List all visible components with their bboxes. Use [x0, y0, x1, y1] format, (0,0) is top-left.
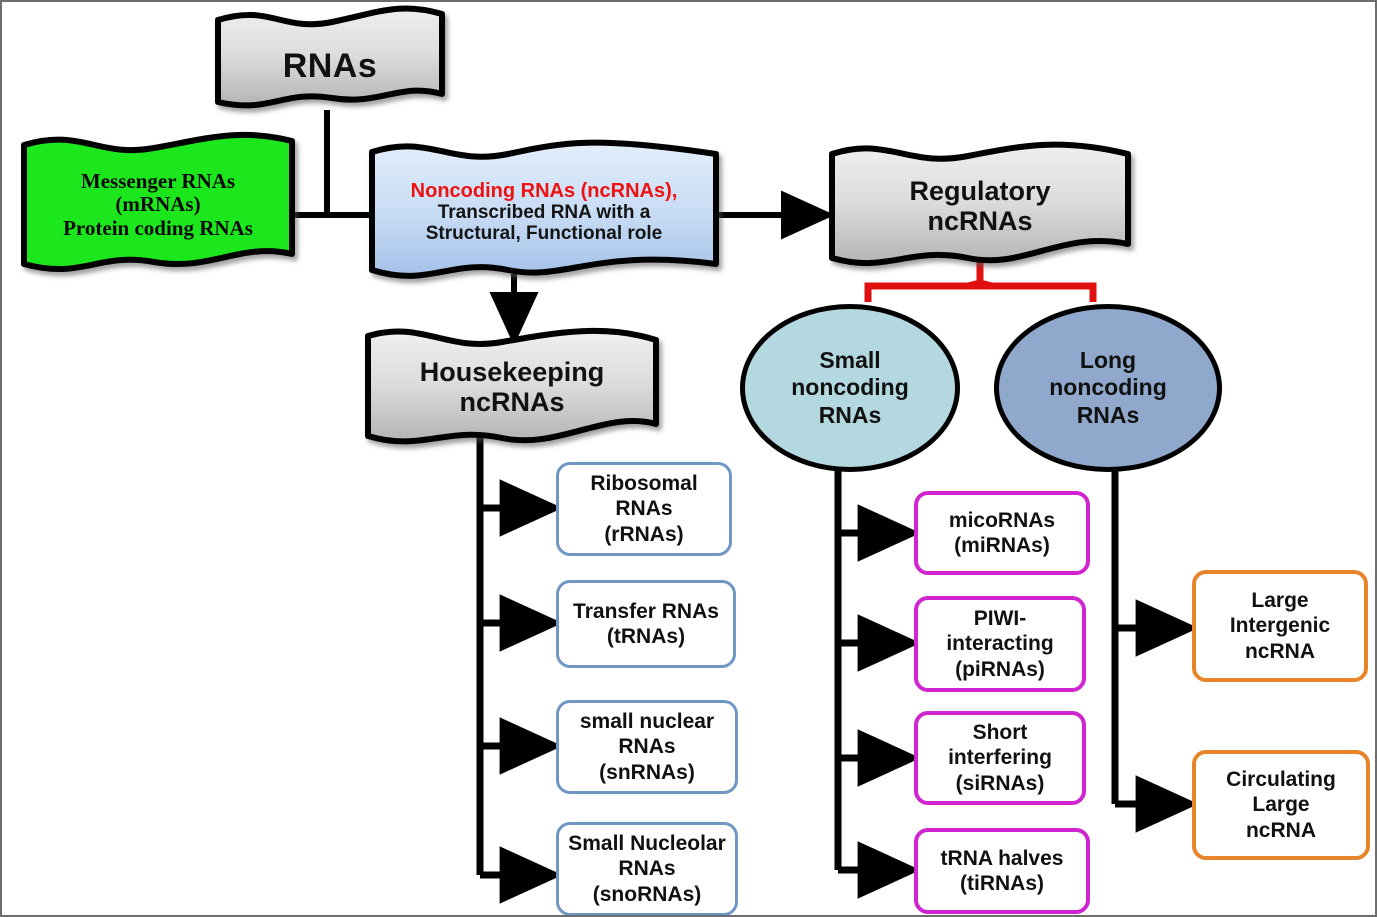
- node-regulatory-ncrnas-line2: ncRNAs: [927, 206, 1032, 236]
- leaf-transfer-rnas[interactable]: Transfer RNAs (tRNAs): [556, 580, 736, 668]
- leaf-piwi-interacting-rnas-line3: (piRNAs): [955, 658, 1045, 681]
- node-messenger-rnas-line2: (mRNAs): [115, 192, 200, 216]
- leaf-micrornas-line1: micoRNAs: [949, 509, 1055, 532]
- leaf-ribosomal-rnas[interactable]: Ribosomal RNAs (rRNAs): [556, 462, 732, 556]
- node-regulatory-ncrnas[interactable]: Regulatory ncRNAs: [832, 154, 1128, 258]
- leaf-large-intergenic-ncrna-line3: ncRNA: [1245, 640, 1315, 663]
- leaf-large-intergenic-ncrna-line1: Large: [1251, 589, 1308, 612]
- node-messenger-rnas[interactable]: Messenger RNAs (mRNAs) Protein coding RN…: [24, 145, 292, 265]
- leaf-small-nucleolar-rnas-line3: (snoRNAs): [593, 883, 702, 906]
- leaf-short-interfering-rnas-line1: Short: [973, 721, 1028, 744]
- leaf-ribosomal-rnas-line2: RNAs: [615, 497, 672, 520]
- node-long-noncoding-rnas-line3: RNAs: [1077, 402, 1140, 428]
- node-small-noncoding-rnas-line3: RNAs: [819, 402, 882, 428]
- node-noncoding-rnas-line3: Structural, Functional role: [382, 223, 705, 244]
- node-housekeeping-ncrnas[interactable]: Housekeeping ncRNAs: [368, 338, 656, 436]
- leaf-circulating-large-ncrna[interactable]: Circulating Large ncRNA: [1192, 750, 1370, 860]
- leaf-short-interfering-rnas[interactable]: Short interfering (siRNAs): [914, 711, 1086, 805]
- node-housekeeping-ncrnas-line1: Housekeeping: [420, 357, 605, 387]
- node-small-noncoding-rnas-line1: Small: [819, 347, 880, 373]
- leaf-piwi-interacting-rnas[interactable]: PIWI- interacting (piRNAs): [914, 596, 1086, 692]
- leaf-transfer-rnas-line1: Transfer RNAs: [573, 600, 719, 623]
- leaf-piwi-interacting-rnas-line2: interacting: [946, 632, 1053, 655]
- leaf-short-interfering-rnas-line3: (siRNAs): [956, 772, 1045, 795]
- node-noncoding-rnas[interactable]: Noncoding RNAs (ncRNAs), Transcribed RNA…: [372, 152, 716, 272]
- leaf-small-nuclear-rnas-line2: RNAs: [618, 735, 675, 758]
- node-small-noncoding-rnas-line2: noncoding: [791, 374, 909, 400]
- node-noncoding-rnas-line2: Transcribed RNA with a: [382, 202, 705, 223]
- leaf-ribosomal-rnas-line3: (rRNAs): [604, 523, 683, 546]
- leaf-circulating-large-ncrna-line1: Circulating: [1226, 768, 1336, 791]
- node-messenger-rnas-line1: Messenger RNAs: [81, 169, 235, 193]
- node-long-noncoding-rnas[interactable]: Long noncoding RNAs: [994, 304, 1222, 472]
- leaf-small-nuclear-rnas-line3: (snRNAs): [599, 761, 695, 784]
- leaf-large-intergenic-ncrna[interactable]: Large Intergenic ncRNA: [1192, 570, 1368, 682]
- leaf-transfer-rnas-line2: (tRNAs): [607, 625, 685, 648]
- node-regulatory-ncrnas-line1: Regulatory: [909, 176, 1050, 206]
- node-small-noncoding-rnas[interactable]: Small noncoding RNAs: [740, 304, 960, 472]
- leaf-trna-halves[interactable]: tRNA halves (tiRNAs): [914, 828, 1090, 914]
- leaf-micrornas[interactable]: micoRNAs (miRNAs): [914, 491, 1090, 575]
- node-housekeeping-ncrnas-line2: ncRNAs: [459, 387, 564, 417]
- leaf-small-nucleolar-rnas-line2: RNAs: [618, 857, 675, 880]
- leaf-piwi-interacting-rnas-line1: PIWI-: [974, 607, 1027, 630]
- leaf-trna-halves-line2: (tiRNAs): [960, 872, 1044, 895]
- node-rnas[interactable]: RNAs: [218, 20, 442, 112]
- node-messenger-rnas-line3: Protein coding RNAs: [63, 216, 253, 240]
- node-rnas-label: RNAs: [234, 47, 427, 85]
- leaf-circulating-large-ncrna-line2: Large: [1252, 793, 1309, 816]
- leaf-small-nuclear-rnas[interactable]: small nuclear RNAs (snRNAs): [556, 700, 738, 794]
- leaf-small-nucleolar-rnas-line1: Small Nucleolar: [568, 832, 726, 855]
- leaf-circulating-large-ncrna-line3: ncRNA: [1246, 819, 1316, 842]
- node-noncoding-rnas-highlight: Noncoding RNAs (ncRNAs),: [382, 180, 705, 202]
- leaf-ribosomal-rnas-line1: Ribosomal: [590, 472, 697, 495]
- leaf-trna-halves-line1: tRNA halves: [941, 847, 1064, 870]
- leaf-micrornas-line2: (miRNAs): [954, 534, 1050, 557]
- node-long-noncoding-rnas-line1: Long: [1080, 347, 1136, 373]
- diagram-canvas: RNAs Messenger RNAs (mRNAs) Protein codi…: [0, 0, 1377, 917]
- node-long-noncoding-rnas-line2: noncoding: [1049, 374, 1167, 400]
- leaf-large-intergenic-ncrna-line2: Intergenic: [1230, 614, 1330, 637]
- leaf-short-interfering-rnas-line2: interfering: [948, 746, 1052, 769]
- leaf-small-nuclear-rnas-line1: small nuclear: [580, 710, 714, 733]
- leaf-small-nucleolar-rnas[interactable]: Small Nucleolar RNAs (snoRNAs): [556, 822, 738, 916]
